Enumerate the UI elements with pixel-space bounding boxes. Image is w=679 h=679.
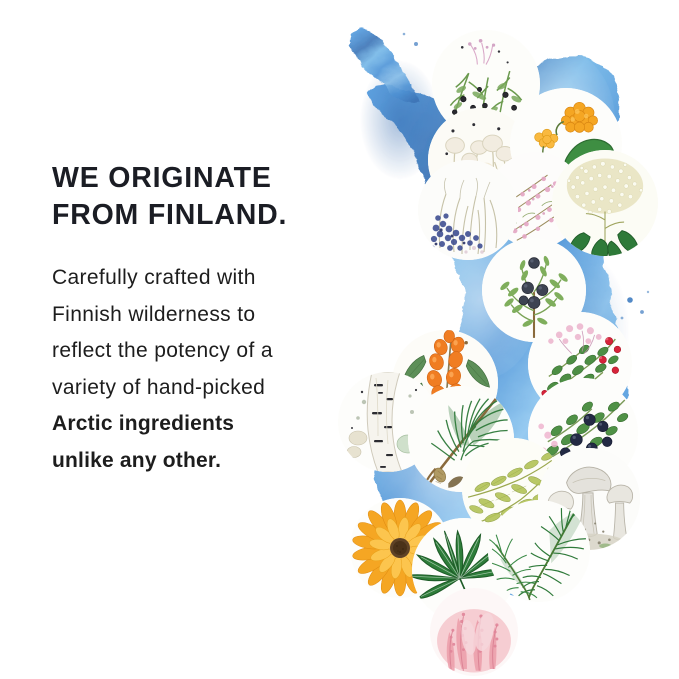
finland-map-illustration <box>330 0 679 679</box>
page-title: WE ORIGINATE FROM FINLAND. <box>52 160 352 234</box>
medallion-pink-willowherb[interactable] <box>430 588 518 676</box>
pink-willowherb-icon <box>430 588 518 676</box>
body-line-3: reflect the potency of a <box>52 333 352 370</box>
spruce-sprig-icon <box>488 500 590 602</box>
text-panel: WE ORIGINATE FROM FINLAND. Carefully cra… <box>52 160 352 479</box>
headline-line-2: FROM FINLAND. <box>52 197 352 234</box>
body-line-5: Arctic ingredients <box>52 406 352 443</box>
juniper-icon <box>418 160 518 260</box>
elderflower-icon <box>552 150 658 256</box>
medallion-spruce-sprig[interactable] <box>488 500 590 602</box>
body-line-1: Carefully crafted with <box>52 260 352 297</box>
body-line-4: variety of hand-picked <box>52 370 352 407</box>
poster-canvas: WE ORIGINATE FROM FINLAND. Carefully cra… <box>0 0 679 679</box>
body-line-2: Finnish wilderness to <box>52 297 352 334</box>
headline-line-1: WE ORIGINATE <box>52 160 352 197</box>
body-copy: Carefully crafted with Finnish wildernes… <box>52 234 352 479</box>
medallion-elderflower[interactable] <box>552 150 658 256</box>
body-line-6: unlike any other. <box>52 443 352 480</box>
medallion-juniper[interactable] <box>418 160 518 260</box>
